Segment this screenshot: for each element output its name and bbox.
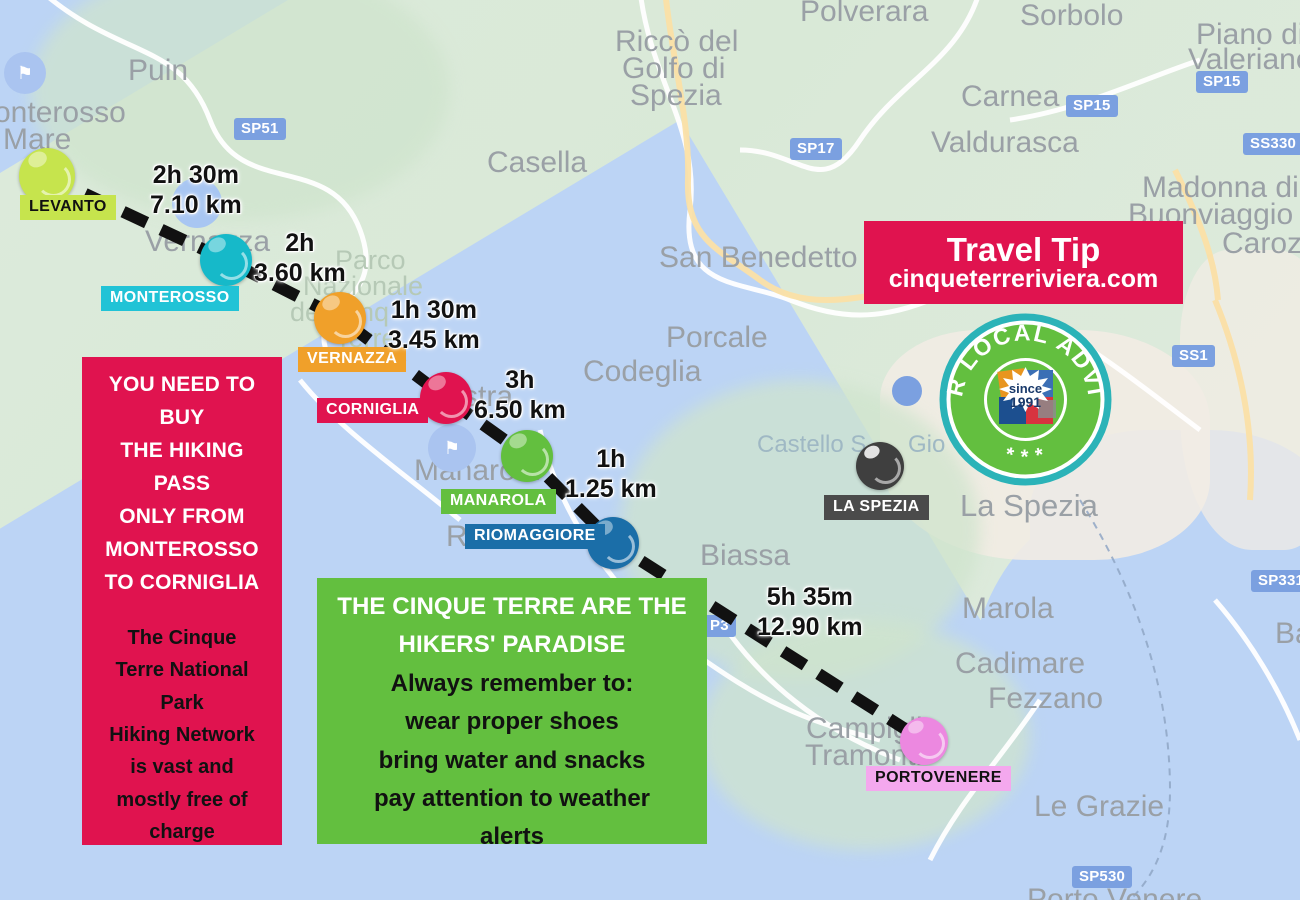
map-place-label: La Spezia [960,489,1098,522]
leg-duration: 3h [474,365,566,395]
hikers-paradise-headline-line: HIKERS' PARADISE [325,626,699,664]
leg-distance: 1.25 km [565,474,657,504]
road-shield-ss1: SS1 [1172,345,1215,367]
travel-tip-title: Travel Tip [947,233,1100,266]
stop-label-riomaggiore: RIOMAGGIORE [465,524,605,549]
poi-monterosso-icon: ⚑ [4,52,46,94]
poi-manarola-icon: ⚑ [428,424,476,472]
hiking-pass-headline-line: MONTEROSSO [90,534,274,567]
map-place-label: Cadimare [955,648,1085,680]
leg-distance: 3.60 km [254,258,346,288]
map-place-label: Ba [1275,618,1300,650]
leg-label-levanto-to-monterosso: 2h 30m7.10 km [150,160,242,220]
road-shield-sp530: SP530 [1072,866,1132,888]
map-place-label: Carnea [961,81,1059,113]
stop-marker-portovenere[interactable] [900,717,948,765]
leg-duration: 2h 30m [150,160,242,190]
svg-text:1991: 1991 [1010,394,1041,410]
beach-icon: ⚑ [17,64,33,82]
hiking-pass-notice-box: YOU NEED TOBUYTHE HIKINGPASSONLY FROMMON… [82,357,282,845]
hiking-pass-body-line: is vast and [90,751,274,783]
flag-icon: ⚑ [444,439,460,457]
stop-marker-monterosso[interactable] [200,234,252,286]
hiking-pass-body-line: The Cinque [90,622,274,654]
leg-label-vernazza-to-corniglia: 1h 30m3.45 km [388,295,480,355]
leg-duration: 1h [565,444,657,474]
road-shield-sp331: SP331 [1251,570,1300,592]
leg-distance: 6.50 km [474,395,566,425]
hiking-pass-body: The CinqueTerre NationalParkHiking Netwo… [90,622,274,849]
map-place-label: Porcale [666,322,768,354]
urban-area-east [1180,250,1300,550]
travel-tip-url[interactable]: cinqueterreriviera.com [889,267,1159,292]
map-place-label: San Benedetto [659,242,858,274]
leg-label-riomaggiore-to-portovenere: 5h 35m12.90 km [757,582,863,642]
leg-duration: 1h 30m [388,295,480,325]
stop-marker-manarola[interactable] [501,430,553,482]
map-place-label: Valdurasca [931,127,1079,159]
hikers-paradise-headline-line: THE CINQUE TERRE ARE THE [325,588,699,626]
poi-la-spezia-icon [892,376,922,406]
road-shield-p3: P3 [703,615,736,637]
map-place-label: Le Grazie [1034,791,1164,823]
map-infographic: PuinPolveraraSorboloPiano diValeriano-LR… [0,0,1300,900]
map-place-label: Biassa [700,540,790,572]
map-place-label: Marola [962,593,1054,625]
road-shield-ss330: SS330 [1243,133,1300,155]
stop-marker-vernazza[interactable] [314,292,366,344]
map-place-label: Sorbolo [1020,0,1123,32]
map-place-label: Castello S [757,432,866,458]
hikers-paradise-box: THE CINQUE TERRE ARE THEHIKERS' PARADISE… [317,578,707,844]
hiking-pass-headline: YOU NEED TOBUYTHE HIKINGPASSONLY FROMMON… [90,369,274,600]
map-place-label: Codeglia [583,356,701,388]
map-place-label: Carozzo [1222,228,1300,260]
stop-marker-la-spezia[interactable] [856,442,904,490]
hikers-paradise-body-line: bring water and snacks [325,742,699,780]
hiking-pass-body-line: charge [90,816,274,848]
map-place-label: Puin [128,55,188,87]
leg-label-manarola-to-riomaggiore: 1h1.25 km [565,444,657,504]
leg-distance: 7.10 km [150,190,242,220]
stop-label-corniglia: CORNIGLIA [317,398,428,423]
hikers-paradise-body-line: alerts [325,818,699,856]
hiking-pass-body-line: Hiking Network [90,719,274,751]
your-local-advisor-logo: YOUR LOCAL ADVISOR * * * since 1991 [938,312,1113,487]
hikers-paradise-headline: THE CINQUE TERRE ARE THEHIKERS' PARADISE [325,588,699,665]
leg-distance: 3.45 km [388,325,480,355]
leg-duration: 5h 35m [757,582,863,612]
map-place-label: Casella [487,147,587,179]
hikers-paradise-body-line: Always remember to: [325,665,699,703]
hikers-paradise-body: Always remember to:wear proper shoesbrin… [325,665,699,857]
leg-distance: 12.90 km [757,612,863,642]
hiking-pass-body-line: Terre National [90,654,274,686]
road-shield-sp51: SP51 [234,118,286,140]
hiking-pass-body-line: Park [90,687,274,719]
hiking-pass-headline-line: TO CORNIGLIA [90,567,274,600]
hikers-paradise-body-line: pay attention to weather [325,780,699,818]
map-place-label: Spezia [630,80,722,112]
stop-label-levanto: LEVANTO [20,195,116,220]
hiking-pass-headline-line: THE HIKING [90,435,274,468]
stop-label-manarola: MANAROLA [441,489,556,514]
hiking-pass-headline-line: ONLY FROM [90,501,274,534]
stop-label-portovenere: PORTOVENERE [866,766,1011,791]
map-place-label: Polverara [800,0,928,28]
stop-label-la-spezia: LA SPEZIA [824,495,929,520]
travel-tip-banner: Travel Tip cinqueterreriviera.com [864,221,1183,304]
leg-duration: 2h [254,228,346,258]
badge-ring-bottom-text: * * * [1002,443,1048,468]
road-shield-sp17: SP17 [790,138,842,160]
hiking-pass-headline-line: BUY [90,402,274,435]
hikers-paradise-body-line: wear proper shoes [325,703,699,741]
leg-label-corniglia-to-manarola: 3h6.50 km [474,365,566,425]
hiking-pass-body-line: mostly free of [90,784,274,816]
badge-center-emblem: since 1991 [997,367,1056,424]
stop-label-monterosso: MONTEROSSO [101,286,239,311]
road-shield-sp15: SP15 [1196,71,1248,93]
leg-label-monterosso-to-vernazza: 2h3.60 km [254,228,346,288]
hiking-pass-headline-line: YOU NEED TO [90,369,274,402]
road-shield-sp15: SP15 [1066,95,1118,117]
map-place-label: Fezzano [988,683,1103,715]
hiking-pass-headline-line: PASS [90,468,274,501]
